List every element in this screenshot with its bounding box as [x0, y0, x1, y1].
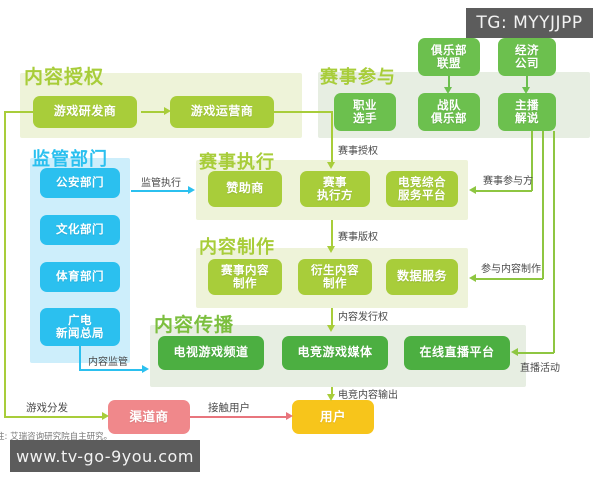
edge-label-content-publishing: 内容发行权 — [338, 308, 388, 323]
node-label-line2: 制作 — [323, 277, 347, 290]
diagram-canvas: 内容授权 监管部门 赛事参与 赛事执行 内容制作 内容传播 游戏研发商 游戏运营… — [0, 0, 600, 480]
arrowhead-regulation-execution — [188, 186, 195, 194]
node-label-line2: 新闻总局 — [56, 327, 104, 340]
edge-join-production-v — [542, 131, 544, 279]
edge-label-event-copyright: 赛事版权 — [338, 228, 378, 243]
node-label: 游戏研发商 — [54, 105, 117, 119]
arrowhead-agency-to-streamer — [522, 87, 530, 94]
node-game-operator[interactable]: 游戏运营商 — [170, 96, 274, 128]
node-event-content-production[interactable]: 赛事内容 制作 — [208, 259, 282, 295]
site-url-badge: www.tv-go-9you.com — [10, 440, 200, 472]
node-derivative-content-production[interactable]: 衍生内容 制作 — [298, 259, 372, 295]
edge-event-authorization-v — [331, 111, 333, 163]
edge-content-regulation-stem — [79, 346, 81, 370]
node-club-alliance[interactable]: 俱乐部 联盟 — [418, 38, 480, 76]
node-label-line2: 服务平台 — [398, 189, 446, 202]
node-sports-dept[interactable]: 体育部门 — [40, 262, 120, 292]
edge-label-regulation-execution: 监管执行 — [141, 174, 181, 189]
node-label: 在线直播平台 — [419, 346, 494, 360]
node-label-line2: 解说 — [515, 112, 539, 125]
edge-regulation-execution — [131, 190, 188, 192]
node-game-developer[interactable]: 游戏研发商 — [33, 96, 137, 128]
edge-label-join-production: 参与内容制作 — [481, 260, 541, 275]
arrowhead-participants — [469, 186, 476, 194]
node-label-line2: 公司 — [515, 57, 539, 70]
node-label: 数据服务 — [397, 270, 447, 284]
node-label-line2: 联盟 — [437, 57, 461, 70]
node-pro-player[interactable]: 职业 选手 — [334, 93, 396, 131]
node-label: 体育部门 — [56, 270, 104, 283]
arrowhead-reach-user — [286, 412, 293, 420]
arrowhead-developer-to-operator — [164, 107, 171, 115]
arrowhead-content-regulation — [142, 365, 149, 373]
edge-label-event-authorization: 赛事授权 — [338, 142, 378, 157]
node-online-live-platform[interactable]: 在线直播平台 — [404, 336, 510, 370]
node-label: 电视游戏频道 — [173, 346, 248, 360]
node-label: 电竞游戏媒体 — [297, 346, 372, 360]
title-content-distribution: 内容传播 — [154, 310, 234, 337]
node-team-club[interactable]: 战队 俱乐部 — [418, 93, 480, 131]
node-label-line2: 俱乐部 — [431, 112, 467, 125]
node-channel-provider[interactable]: 渠道商 — [108, 400, 190, 434]
arrowhead-event-copyright — [327, 246, 335, 253]
edge-label-content-regulation: 内容监管 — [88, 353, 128, 368]
node-user[interactable]: 用户 — [292, 400, 374, 434]
node-label-line2: 执行方 — [317, 189, 353, 202]
arrowhead-alliance-to-team — [444, 87, 452, 94]
node-esports-service-platform[interactable]: 电竞综合 服务平台 — [386, 171, 458, 207]
node-label-line2: 制作 — [233, 277, 257, 290]
node-tv-game-channel[interactable]: 电视游戏频道 — [158, 336, 264, 370]
edge-game-distribution-v — [4, 111, 6, 417]
edge-live-activity-h — [518, 352, 554, 354]
telegram-tag-badge: TG: MYYJJPP — [466, 8, 593, 38]
edge-label-participants: 赛事参与方 — [483, 172, 533, 187]
node-sponsor[interactable]: 赞助商 — [208, 171, 282, 207]
node-label: 游戏运营商 — [191, 105, 254, 119]
node-streamer-commentator[interactable]: 主播 解说 — [498, 93, 556, 131]
node-label: 赞助商 — [226, 182, 264, 196]
edge-developer-to-operator — [141, 111, 164, 113]
node-data-service[interactable]: 数据服务 — [386, 259, 458, 295]
title-event-participation: 赛事参与 — [320, 63, 396, 89]
arrowhead-game-distribution — [102, 412, 109, 420]
node-event-executor[interactable]: 赛事 执行方 — [300, 171, 370, 207]
edge-game-distribution-h — [4, 416, 102, 418]
edge-participants-h — [476, 190, 532, 192]
arrowhead-content-publishing — [327, 325, 335, 332]
node-label: 渠道商 — [129, 410, 168, 424]
edge-live-activity-v — [553, 131, 555, 353]
arrowhead-join-production — [469, 274, 476, 282]
edge-left-operator-stub — [4, 111, 34, 113]
node-agency-company[interactable]: 经济 公司 — [498, 38, 556, 76]
edge-label-game-distribution: 游戏分发 — [26, 400, 68, 415]
arrowhead-event-authorization — [327, 162, 335, 169]
edge-join-production-h — [476, 278, 543, 280]
node-public-security-dept[interactable]: 公安部门 — [40, 168, 120, 198]
node-label-line2: 选手 — [353, 112, 377, 125]
node-label: 公安部门 — [56, 176, 104, 189]
arrowhead-content-output — [327, 394, 335, 401]
edge-label-live-activity: 直播活动 — [520, 359, 560, 374]
node-label: 用户 — [320, 410, 346, 424]
node-label: 文化部门 — [56, 223, 104, 236]
title-content-authorization: 内容授权 — [24, 62, 104, 89]
node-esports-game-media[interactable]: 电竞游戏媒体 — [282, 336, 388, 370]
node-culture-dept[interactable]: 文化部门 — [40, 215, 120, 245]
edge-operator-right-stub — [274, 111, 332, 113]
edge-content-regulation — [79, 369, 142, 371]
title-content-production: 内容制作 — [199, 233, 275, 259]
edge-label-reach-user: 接触用户 — [208, 400, 250, 415]
edge-reach-user-h — [190, 416, 286, 418]
edge-event-copyright-v — [331, 220, 333, 248]
edge-label-content-output: 电竞内容输出 — [338, 386, 398, 401]
node-sarft[interactable]: 广电 新闻总局 — [40, 308, 120, 346]
arrowhead-live-activity — [511, 348, 518, 356]
